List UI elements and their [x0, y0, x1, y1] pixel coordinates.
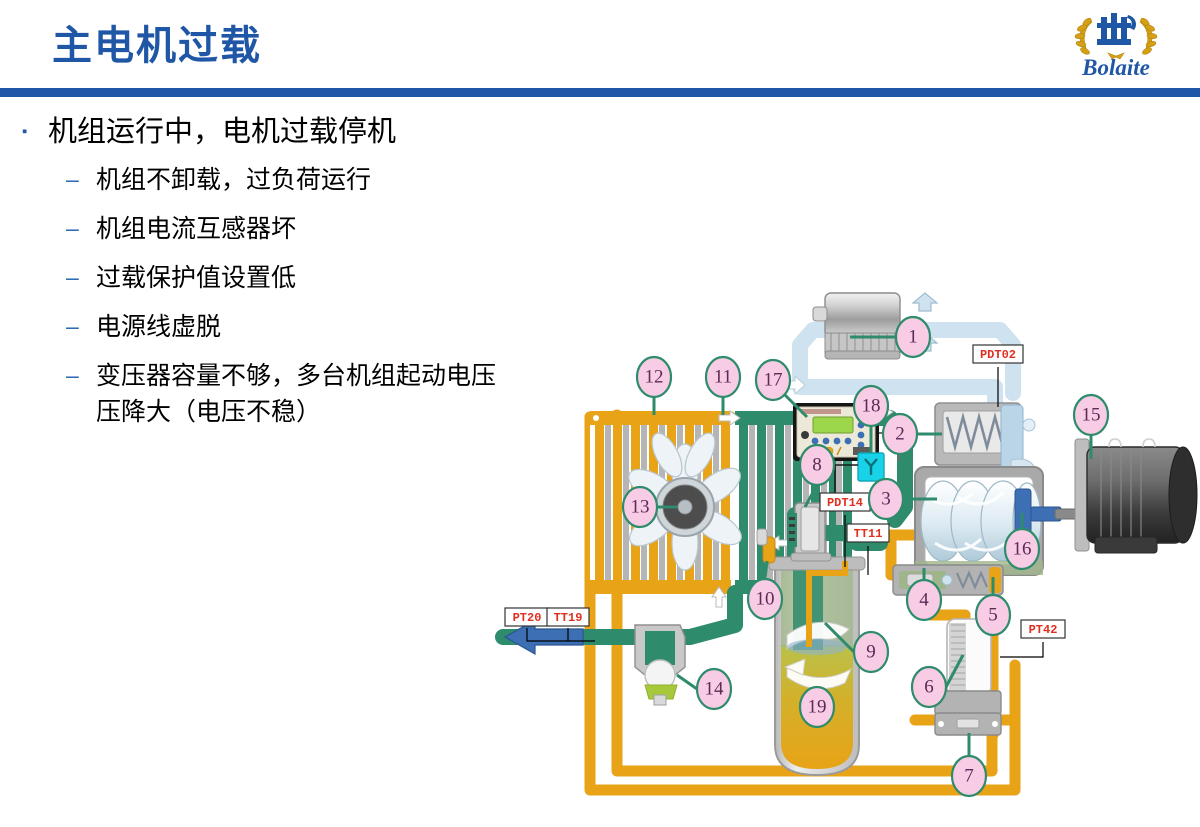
svg-text:1: 1 — [908, 327, 918, 348]
svg-text:4: 4 — [919, 590, 929, 611]
tag-pt42: PT42 — [1000, 620, 1065, 657]
svg-text:5: 5 — [988, 605, 998, 626]
callout-7: 7 — [952, 733, 986, 796]
header-divider-gap — [0, 97, 1200, 99]
bullet-level2-label: 变压器容量不够，多台机组起动电压压降大（电压不稳） — [96, 358, 516, 430]
page-title: 主电机过载 — [52, 22, 262, 70]
svg-text:15: 15 — [1082, 405, 1101, 426]
dash-bullet-icon: – — [66, 162, 96, 196]
svg-text:PDT14: PDT14 — [827, 496, 863, 510]
svg-text:12: 12 — [645, 367, 664, 388]
svg-text:PT20: PT20 — [513, 611, 542, 625]
compressor-flow-diagram: PDT02 PDT14 TT11 PT42 PT20 TT19 1 2 3 4 … — [495, 275, 1200, 827]
bullet-level2-label: 机组不卸载，过负荷运行 — [96, 162, 371, 198]
air-filter — [813, 293, 900, 359]
svg-text:18: 18 — [862, 396, 881, 417]
oil-separator-tank — [769, 557, 865, 775]
bullet-level2-label: 过载保护值设置低 — [96, 260, 296, 296]
svg-text:16: 16 — [1013, 539, 1032, 560]
svg-text:14: 14 — [705, 679, 725, 700]
square-bullet-icon: ▪ — [22, 112, 48, 152]
svg-text:3: 3 — [881, 489, 891, 510]
main-drive-motor — [1075, 439, 1197, 553]
svg-text:TT19: TT19 — [554, 611, 583, 625]
dash-bullet-icon: – — [66, 309, 96, 343]
dash-bullet-icon: – — [66, 211, 96, 245]
condensate-drain-trap — [635, 625, 685, 705]
list-item: – 机组不卸载，过负荷运行 — [66, 162, 542, 198]
oil-stop-valve — [935, 713, 1001, 735]
svg-text:17: 17 — [764, 370, 783, 391]
svg-text:19: 19 — [808, 697, 827, 718]
logo-wordmark: Bolaite — [1056, 55, 1176, 81]
brand-logo: Bolaite — [1056, 3, 1176, 85]
bullet-level2-label: 电源线虚脱 — [96, 309, 221, 345]
dash-bullet-icon: – — [66, 358, 96, 392]
svg-text:TT11: TT11 — [854, 527, 883, 541]
bolaite-emblem-icon — [1056, 3, 1176, 63]
bullet-level2-label: 机组电流互感器坏 — [96, 211, 296, 247]
callout-14: 14 — [677, 669, 731, 709]
svg-text:8: 8 — [812, 455, 822, 476]
list-item: – 机组电流互感器坏 — [66, 211, 542, 247]
svg-text:2: 2 — [895, 424, 905, 445]
svg-text:6: 6 — [924, 677, 934, 698]
svg-text:PDT02: PDT02 — [980, 348, 1016, 362]
bullet-list: ▪ 机组运行中，电机过载停机 – 机组不卸载，过负荷运行 – 机组电流互感器坏 … — [22, 112, 542, 443]
header-divider-rule — [0, 88, 1200, 97]
slide-header: 主电机过载 — [0, 0, 1200, 96]
list-item: – 变压器容量不够，多台机组起动电压压降大（电压不稳） — [66, 358, 542, 430]
list-item: – 过载保护值设置低 — [66, 260, 542, 296]
svg-text:PT42: PT42 — [1029, 623, 1058, 637]
callout-12: 12 — [637, 357, 671, 415]
callout-11: 11 — [706, 357, 740, 415]
dash-bullet-icon: – — [66, 260, 96, 294]
bullet-level1: ▪ 机组运行中，电机过载停机 — [22, 112, 542, 152]
callout-2: 2 — [883, 414, 942, 454]
svg-text:9: 9 — [866, 642, 876, 663]
callout-19: 19 — [800, 687, 834, 727]
bullet-level1-label: 机组运行中，电机过载停机 — [48, 112, 396, 152]
svg-text:10: 10 — [756, 589, 775, 610]
svg-text:7: 7 — [964, 766, 974, 787]
svg-text:13: 13 — [631, 497, 650, 518]
list-item: – 电源线虚脱 — [66, 309, 542, 345]
svg-text:11: 11 — [714, 367, 732, 388]
